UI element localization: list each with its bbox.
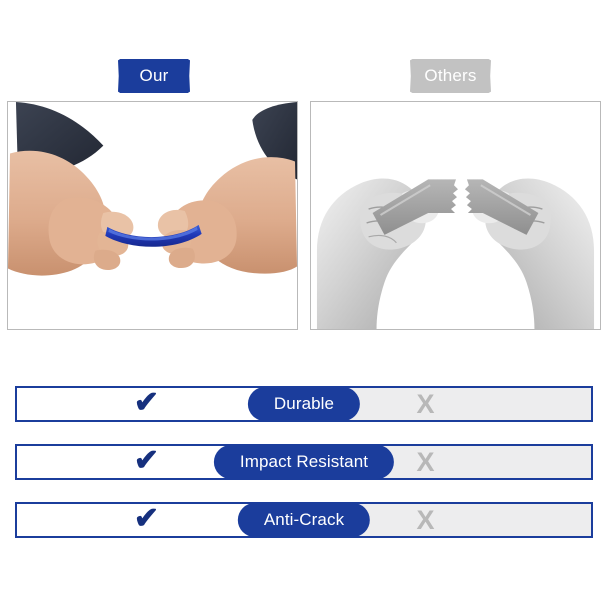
x-icon: X (416, 449, 434, 476)
x-icon: X (416, 507, 434, 534)
feature-label-pill: Durable (248, 387, 360, 421)
table-row: ✔ X Anti-Crack (15, 502, 593, 538)
check-icon: ✔ (134, 504, 159, 534)
comparison-rows: ✔ X Durable ✔ X Impact Resistant ✔ X Ant… (15, 386, 593, 560)
check-icon: ✔ (134, 446, 159, 476)
others-product-photo (310, 101, 601, 330)
photo-panels (7, 101, 601, 330)
others-badge-label: Others (424, 66, 476, 86)
feature-label-pill: Impact Resistant (214, 445, 394, 479)
others-badge: Others (410, 59, 491, 93)
others-photo-illustration (311, 102, 600, 329)
table-row: ✔ X Durable (15, 386, 593, 422)
check-icon: ✔ (134, 388, 159, 418)
feature-label-pill: Anti-Crack (238, 503, 370, 537)
comparison-header: Our Others (0, 59, 608, 97)
our-badge-label: Our (140, 66, 169, 86)
our-photo-illustration (8, 102, 297, 329)
our-badge: Our (118, 59, 190, 93)
x-icon: X (416, 391, 434, 418)
table-row: ✔ X Impact Resistant (15, 444, 593, 480)
our-product-photo (7, 101, 298, 330)
